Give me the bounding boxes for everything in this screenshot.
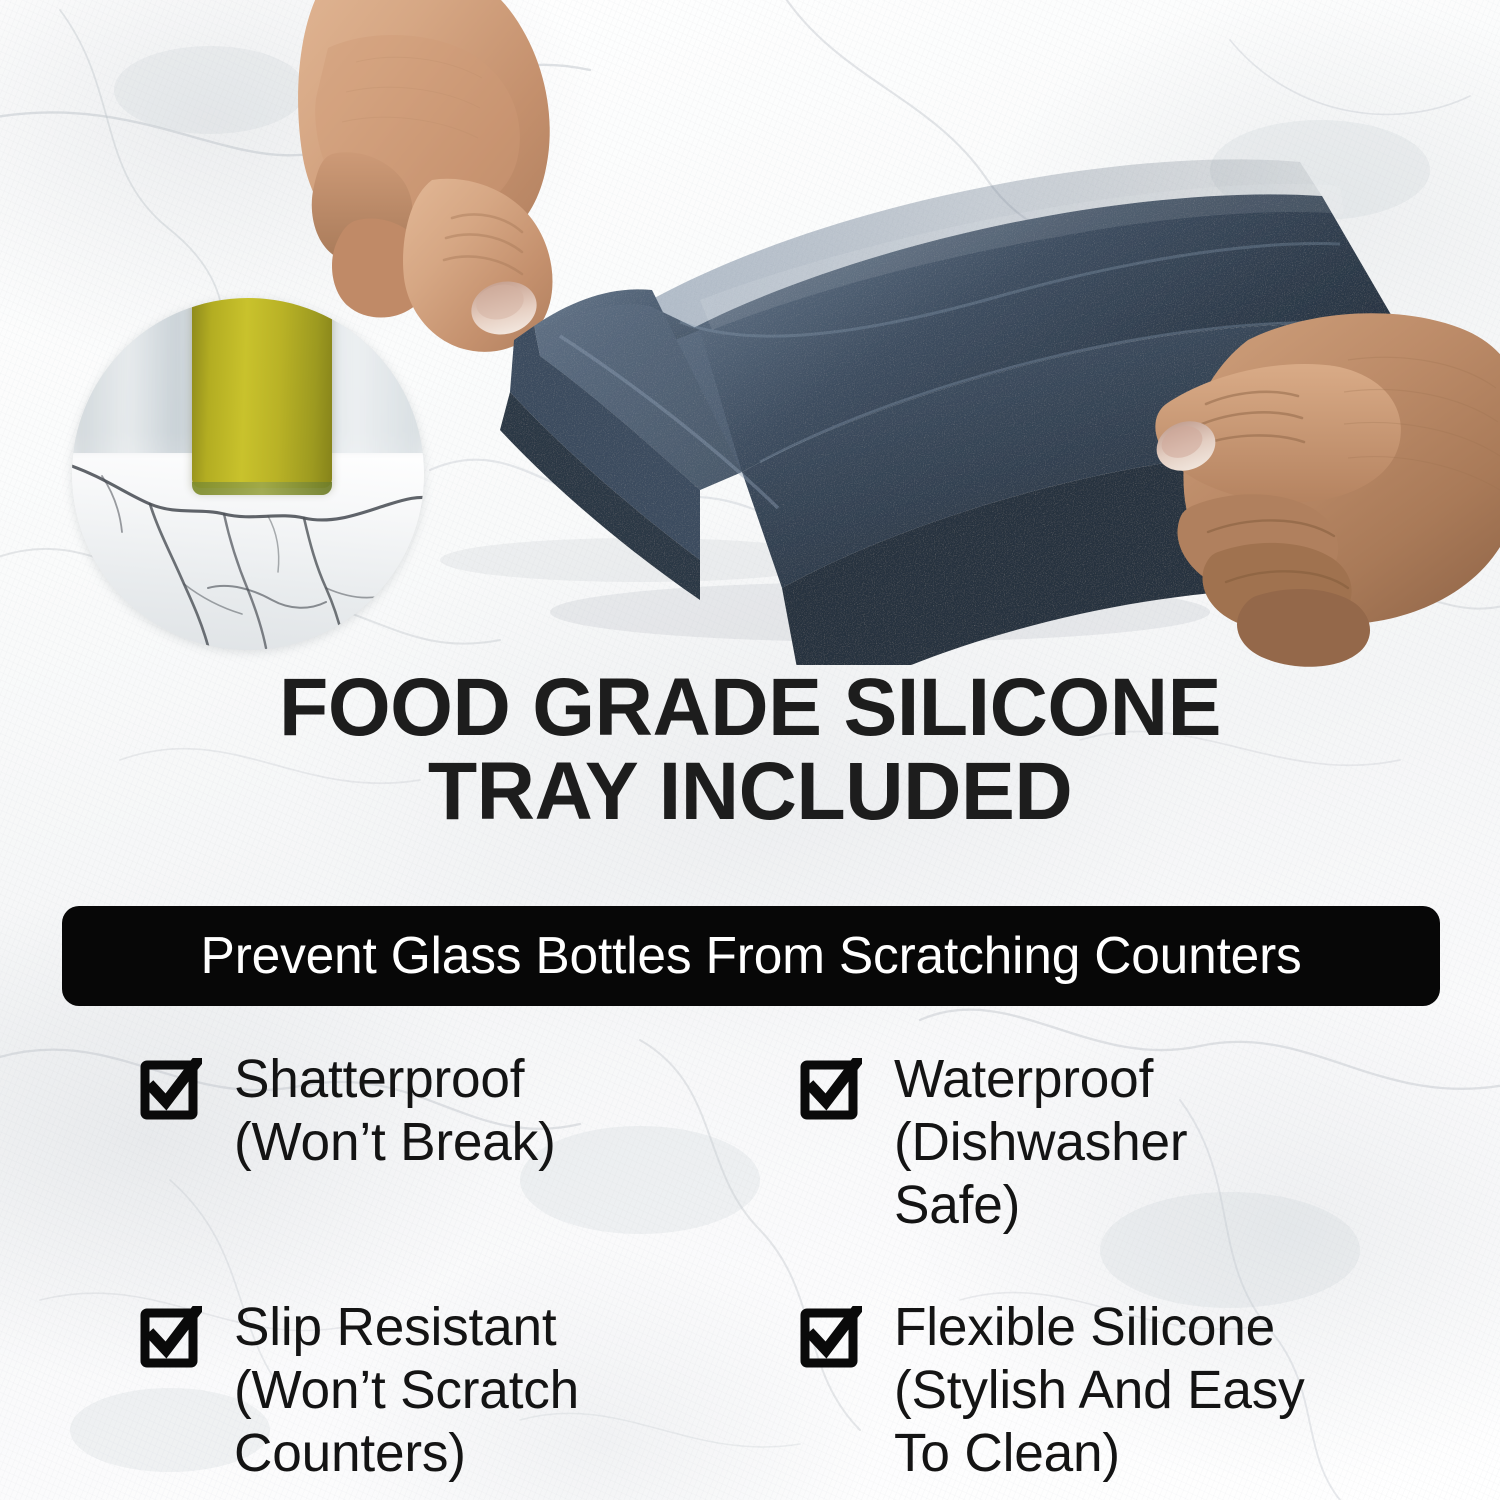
feature-label: Slip Resistant(Won’t Scratch Counters) <box>234 1296 648 1486</box>
feature-label: Flexible Silicone(Stylish And Easy To Cl… <box>894 1296 1308 1486</box>
inset-photo-cracked-counter <box>72 298 424 650</box>
checkbox-checked-icon <box>140 1058 202 1120</box>
headline-line-1: FOOD GRADE SILICONE <box>11 668 1489 748</box>
feature-list: Shatterproof(Won’t Break) Waterproof(Dis… <box>140 1048 1460 1485</box>
product-infographic: FOOD GRADE SILICONE TRAY INCLUDED Preven… <box>0 0 1500 1500</box>
counter-cracks <box>72 298 424 650</box>
feature-item-flexible-silicone: Flexible Silicone(Stylish And Easy To Cl… <box>800 1296 1460 1486</box>
feature-label: Shatterproof(Won’t Break) <box>234 1048 556 1174</box>
checkbox-checked-icon <box>140 1306 202 1368</box>
checkbox-checked-icon <box>800 1306 862 1368</box>
right-hand <box>1148 300 1500 670</box>
feature-item-waterproof: Waterproof(Dishwasher Safe) <box>800 1048 1460 1238</box>
feature-item-slip-resistant: Slip Resistant(Won’t Scratch Counters) <box>140 1296 800 1486</box>
tagline-text: Prevent Glass Bottles From Scratching Co… <box>187 930 1316 982</box>
checkbox-checked-icon <box>800 1058 862 1120</box>
tagline-banner: Prevent Glass Bottles From Scratching Co… <box>62 906 1440 1006</box>
headline-line-2: TRAY INCLUDED <box>11 752 1489 832</box>
page-title: FOOD GRADE SILICONE TRAY INCLUDED <box>11 668 1489 833</box>
product-photo <box>0 0 1500 665</box>
feature-item-shatterproof: Shatterproof(Won’t Break) <box>140 1048 800 1238</box>
feature-label: Waterproof(Dishwasher Safe) <box>894 1048 1308 1238</box>
